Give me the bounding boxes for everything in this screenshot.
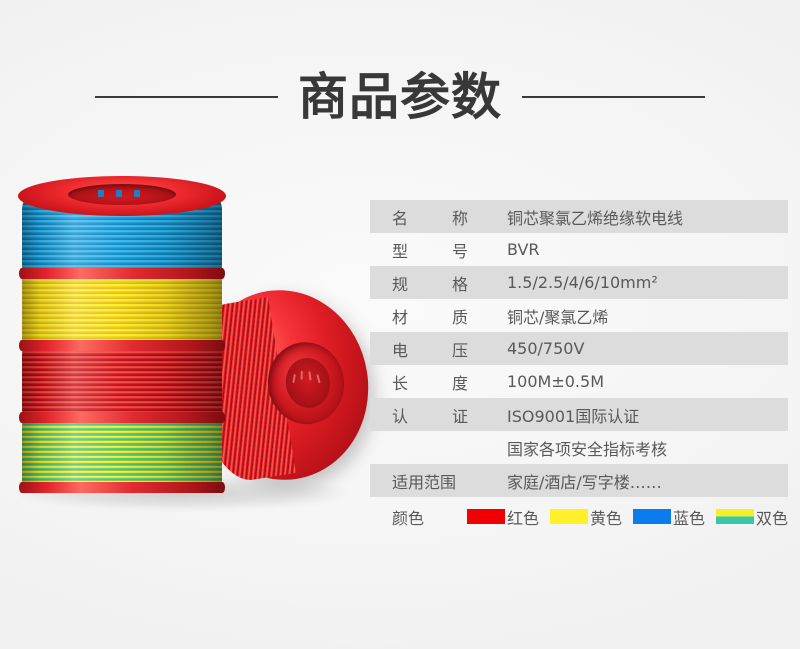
table-row: 材 质 铜芯/聚氯乙烯 (370, 299, 788, 332)
spec-label: 长 度 (370, 370, 507, 394)
swatch-red-icon (467, 509, 505, 524)
spool-flange (19, 340, 225, 351)
spec-label: 名 称 (370, 205, 507, 229)
spec-label: 材 质 (370, 304, 507, 328)
spec-value: BVR (507, 240, 540, 259)
spec-label: 认 证 (370, 403, 507, 427)
stack-top-hole (68, 184, 176, 205)
table-row: 适用范围 家庭/酒店/写字楼…… (370, 464, 788, 497)
table-row: 认 证 ISO9001国际认证 (370, 398, 788, 431)
color-row: 颜色 红色 黄色 蓝色 双色 (370, 500, 788, 533)
table-row: 名 称 铜芯聚氯乙烯绝缘软电线 (370, 200, 788, 233)
table-row-continuation: 国家各项安全指标考核 (370, 431, 788, 464)
spec-value: 国家各项安全指标考核 (507, 436, 667, 460)
spec-value: ISO9001国际认证 (507, 403, 639, 427)
color-option-blue: 蓝色 (633, 505, 705, 529)
spec-label: 电 压 (370, 337, 507, 361)
spec-label: 型 号 (370, 238, 507, 262)
title-rule-left (95, 96, 278, 98)
swatch-label: 黄色 (590, 505, 622, 529)
table-row: 电 压 450/750V (370, 332, 788, 365)
hole-tab-icon (116, 190, 122, 197)
spec-value: 铜芯聚氯乙烯绝缘软电线 (507, 205, 683, 229)
swatch-label: 红色 (507, 505, 539, 529)
swatch-yellow-icon (550, 509, 588, 524)
page-title: 商品参数 (278, 72, 522, 122)
swatch-dual-icon (716, 509, 754, 524)
title-rule-right (522, 96, 705, 98)
spec-value: 1.5/2.5/4/6/10mm² (507, 273, 658, 292)
swatch-label: 双色 (756, 505, 788, 529)
hole-tab-icon (98, 190, 104, 197)
stack-layer-green-yellow (22, 418, 222, 490)
product-image (0, 170, 370, 590)
spool-flange (19, 412, 225, 423)
spec-table: 名 称 铜芯聚氯乙烯绝缘软电线 型 号 BVR 规 格 1.5/2.5/4/6/… (370, 200, 788, 533)
color-option-yellow: 黄色 (550, 505, 622, 529)
stack-layer-red (22, 346, 222, 418)
hole-tab-icon (134, 190, 140, 197)
swatch-label: 蓝色 (673, 505, 705, 529)
stack-layer-yellow (22, 274, 222, 346)
color-option-dual: 双色 (716, 505, 788, 529)
spec-value: 铜芯/聚氯乙烯 (507, 304, 608, 328)
table-row: 长 度 100M±0.5M (370, 365, 788, 398)
hub-mark-icon (292, 374, 295, 383)
spec-label: 规 格 (370, 271, 507, 295)
spec-value: 450/750V (507, 339, 584, 358)
spec-label: 适用范围 (370, 469, 507, 493)
swatch-blue-icon (633, 509, 671, 524)
page-title-block: 商品参数 (0, 62, 800, 132)
table-row: 型 号 BVR (370, 233, 788, 266)
color-option-red: 红色 (467, 505, 539, 529)
table-row: 规 格 1.5/2.5/4/6/10mm² (370, 266, 788, 299)
spec-value: 家庭/酒店/写字楼…… (507, 469, 662, 493)
spool-flange (19, 482, 225, 493)
stack-top-face (18, 176, 226, 216)
product-spec-page: 商品参数 (0, 0, 800, 649)
stacked-spools (22, 192, 222, 492)
hub-mark-icon (308, 371, 311, 380)
color-row-label: 颜色 (370, 505, 467, 529)
hub-mark-icon (316, 374, 320, 383)
spool-flange (19, 268, 225, 279)
hub-mark-icon (301, 371, 303, 380)
spec-value: 100M±0.5M (507, 372, 604, 391)
